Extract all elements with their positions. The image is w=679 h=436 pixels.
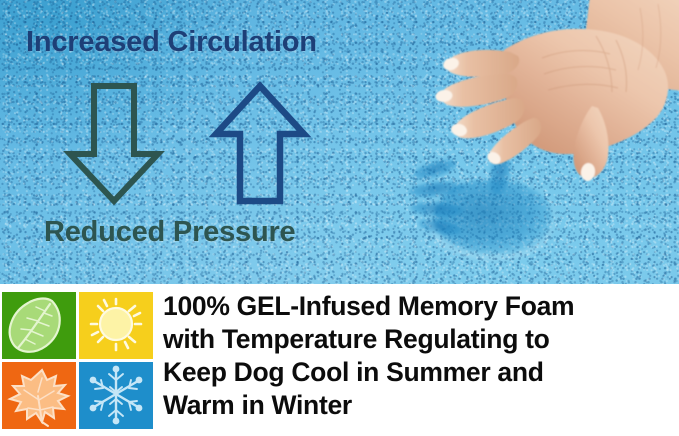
feature-info-strip: 100% GEL-Infused Memory Foam with Temper… xyxy=(0,284,679,436)
feature-line-4: Warm in Winter xyxy=(163,389,679,422)
maple-leaf-icon xyxy=(2,362,76,429)
season-icon-grid xyxy=(2,292,156,430)
handprint-impression xyxy=(398,138,578,263)
down-arrow-icon xyxy=(64,82,164,206)
headline-increased-circulation: Increased Circulation xyxy=(26,26,317,59)
headline-reduced-pressure: Reduced Pressure xyxy=(44,216,295,249)
feature-line-2: with Temperature Regulating to xyxy=(163,323,679,356)
season-tile-winter xyxy=(79,362,153,429)
snowflake-icon xyxy=(79,362,153,429)
feature-line-1: 100% GEL-Infused Memory Foam xyxy=(163,290,679,323)
season-tile-spring xyxy=(2,292,76,359)
handprint-rim-highlight xyxy=(428,174,556,260)
season-tile-summer xyxy=(79,292,153,359)
season-tile-autumn xyxy=(2,362,76,429)
leaf-icon xyxy=(2,292,76,359)
feature-description: 100% GEL-Infused Memory Foam with Temper… xyxy=(163,290,679,422)
up-arrow-icon xyxy=(210,82,310,206)
handprint-finger-index xyxy=(411,156,459,183)
product-feature-graphic: Increased Circulation Reduced Pressure xyxy=(0,0,679,436)
foam-photo-panel: Increased Circulation Reduced Pressure xyxy=(0,0,679,284)
sun-icon xyxy=(79,292,153,359)
feature-line-3: Keep Dog Cool in Summer and xyxy=(163,356,679,389)
